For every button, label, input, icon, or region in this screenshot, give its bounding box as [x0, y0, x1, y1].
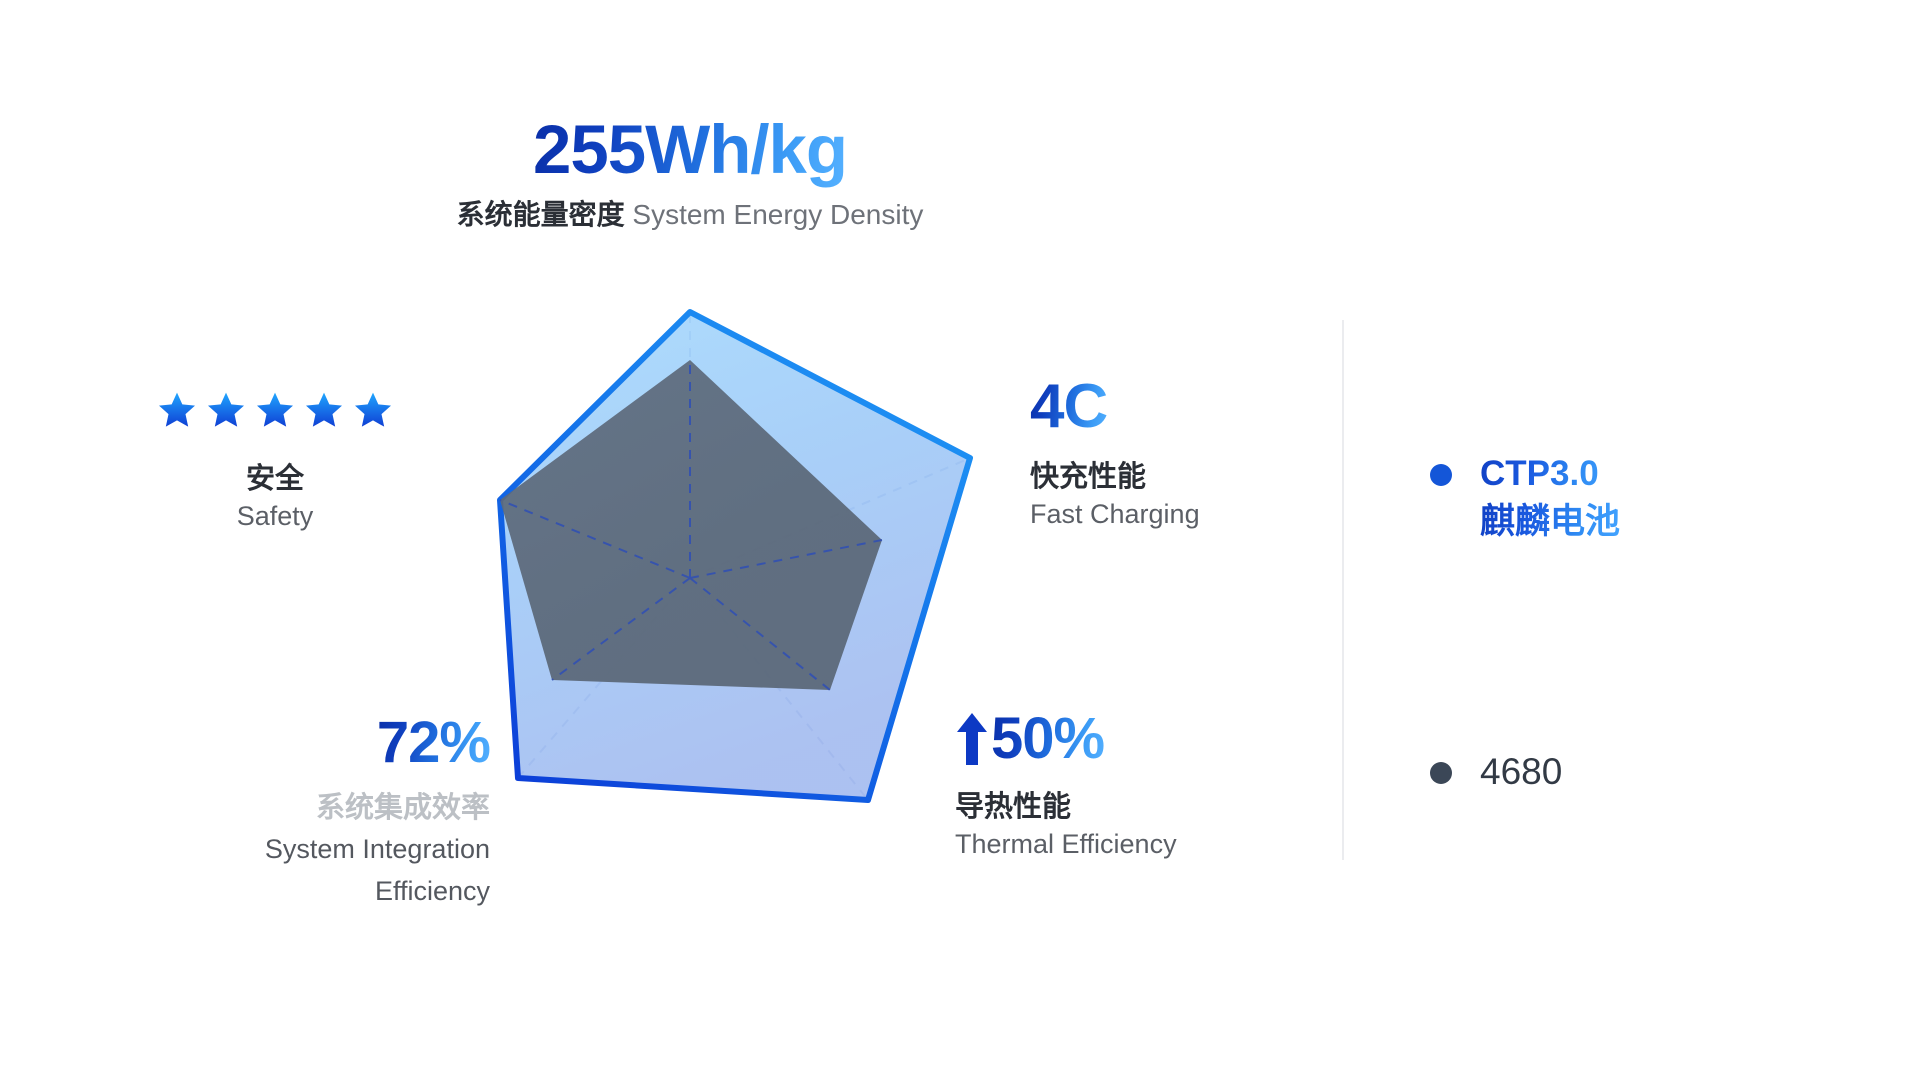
- sie-label-cn: 系统集成效率: [60, 788, 490, 828]
- legend-dot-icon: [1430, 762, 1452, 784]
- star-icon: [206, 390, 246, 430]
- energy-density-label-en: System Energy Density: [632, 199, 923, 230]
- safety-label-cn: 安全: [60, 460, 490, 498]
- metric-system-integration-efficiency: 72% 系统集成效率 System Integration Efficiency: [60, 710, 490, 912]
- vertical-divider: [1342, 320, 1344, 860]
- sie-value: 72%: [377, 710, 490, 776]
- safety-label-en: Safety: [60, 498, 490, 534]
- star-icon: [304, 390, 344, 430]
- legend-item-ctp30[interactable]: CTP3.0 麒麟电池: [1430, 450, 1850, 546]
- legend-label-4680: 4680: [1480, 748, 1562, 796]
- safety-star-rating: [60, 390, 490, 430]
- metric-safety: 安全 Safety: [60, 390, 490, 534]
- thermal-efficiency-value: 50%: [991, 706, 1104, 772]
- legend-dot-icon: [1430, 464, 1452, 486]
- up-arrow-icon: [955, 711, 989, 767]
- energy-density-label: 系统能量密度 System Energy Density: [0, 198, 1380, 232]
- headline-block: 255Wh/kg 系统能量密度 System Energy Density: [0, 112, 1380, 232]
- star-icon: [157, 390, 197, 430]
- chart-legend: CTP3.0 麒麟电池 4680: [1430, 450, 1850, 796]
- fast-charging-label-cn: 快充性能: [1030, 458, 1360, 496]
- thermal-efficiency-label-cn: 导热性能: [955, 788, 1375, 826]
- legend-label-ctp30-cn: 麒麟电池: [1480, 498, 1620, 546]
- fast-charging-value: 4C: [1030, 372, 1107, 442]
- sie-label-en-line1: System Integration: [60, 828, 490, 870]
- thermal-efficiency-label-en: Thermal Efficiency: [955, 826, 1375, 862]
- energy-density-value: 255Wh/kg: [533, 112, 847, 188]
- energy-density-label-cn: 系统能量密度: [457, 199, 625, 230]
- fast-charging-label-en: Fast Charging: [1030, 496, 1360, 532]
- metric-fast-charging: 4C 快充性能 Fast Charging: [1030, 372, 1360, 532]
- star-icon: [353, 390, 393, 430]
- star-icon: [255, 390, 295, 430]
- legend-item-4680[interactable]: 4680: [1430, 748, 1850, 796]
- sie-label-en-line2: Efficiency: [60, 870, 490, 912]
- metric-thermal-efficiency: 50% 导热性能 Thermal Efficiency: [955, 706, 1375, 862]
- slide-canvas: 255Wh/kg 系统能量密度 System Energy Density: [0, 0, 1920, 1080]
- legend-label-ctp30: CTP3.0: [1480, 450, 1620, 498]
